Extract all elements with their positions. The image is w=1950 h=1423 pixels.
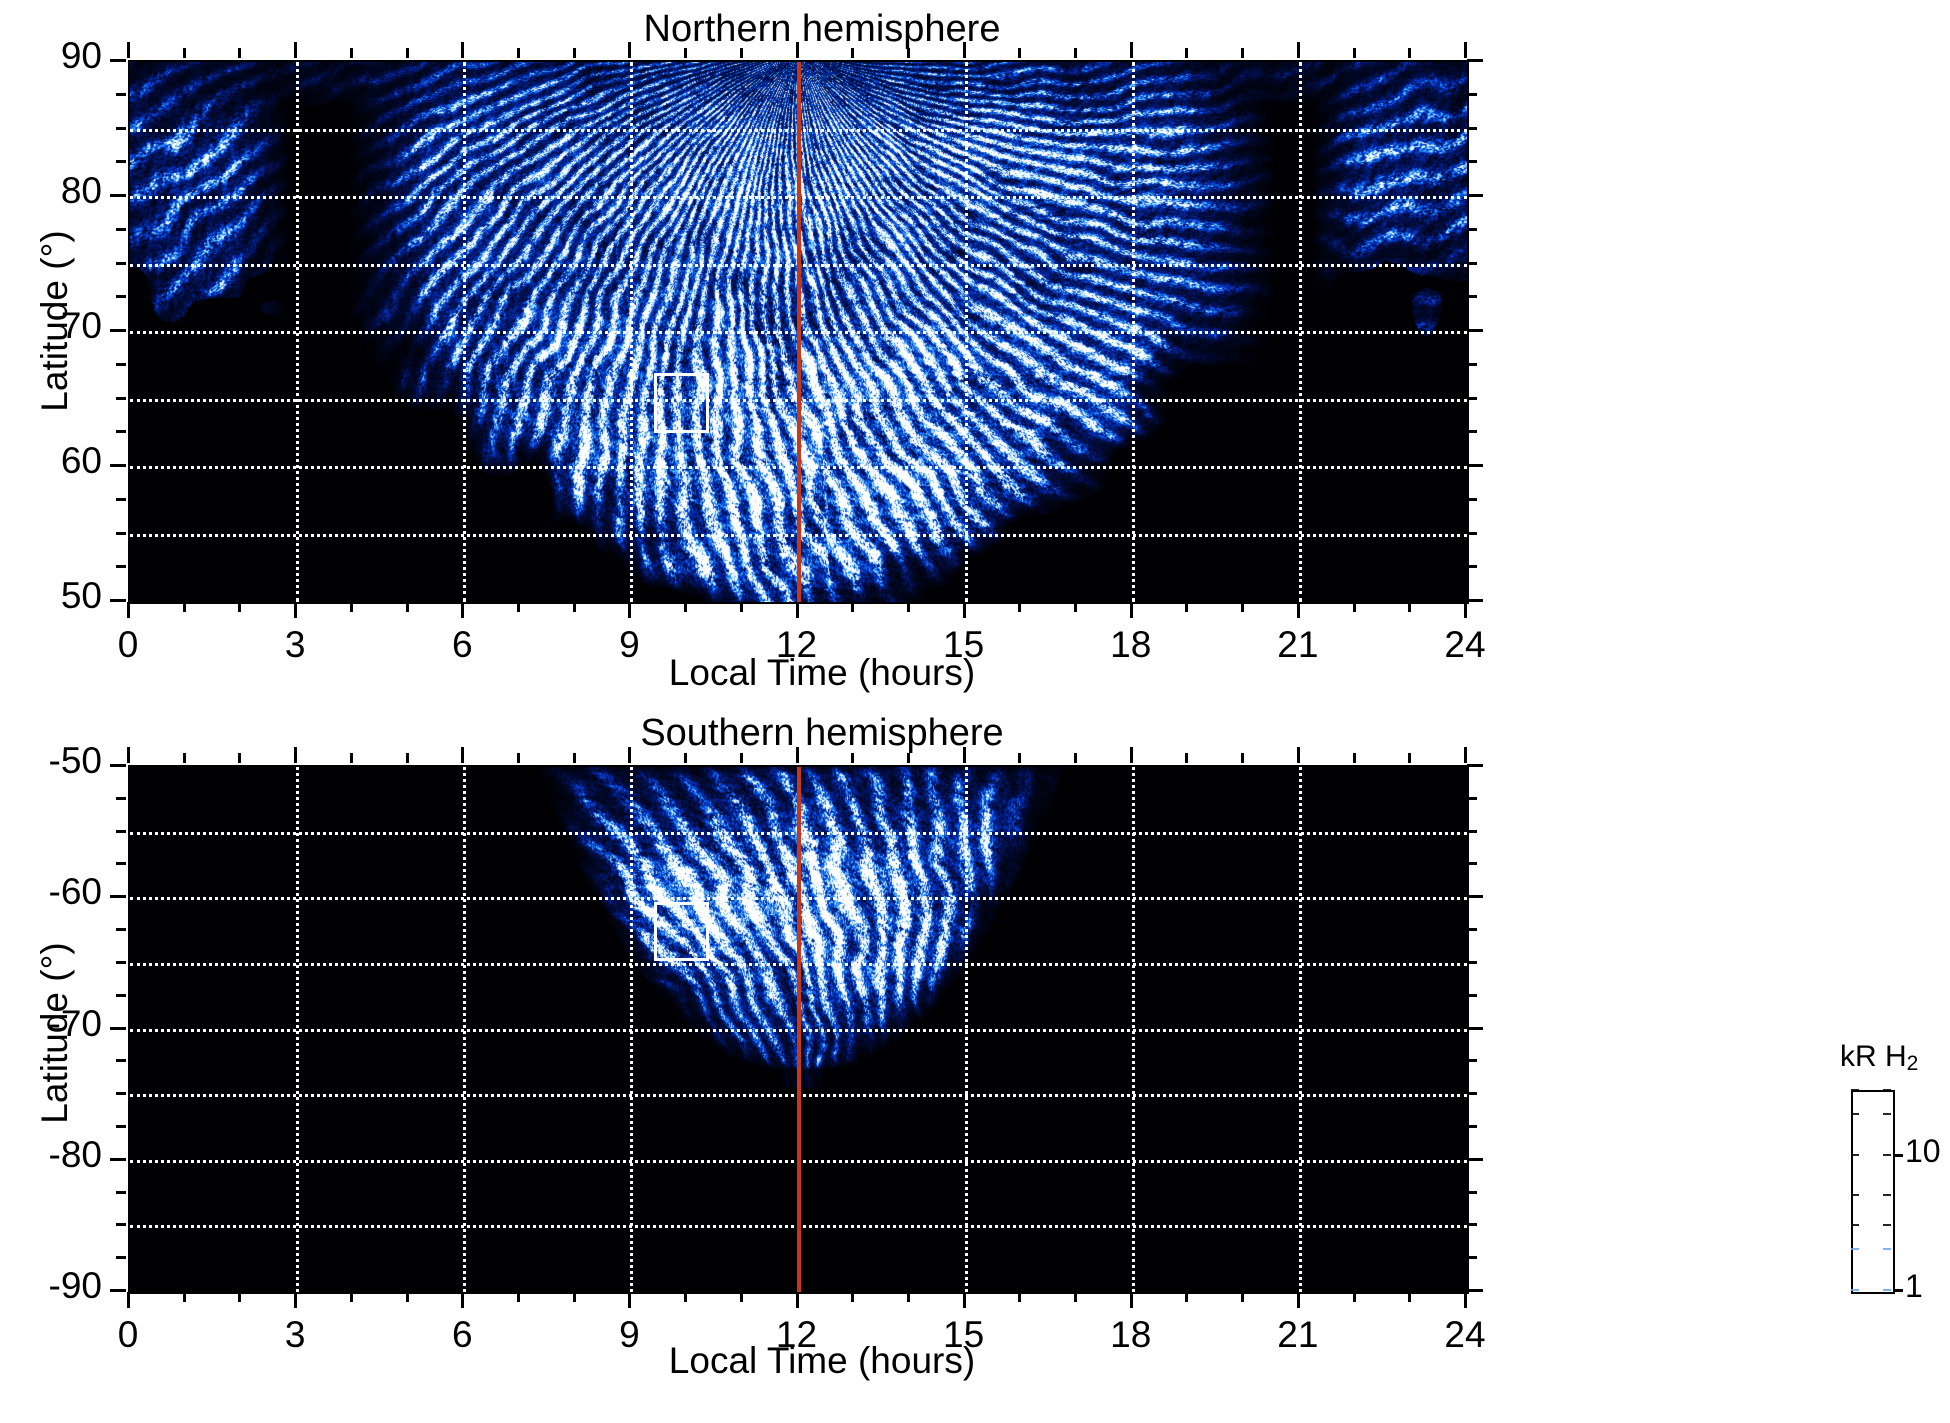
x-tick-major-top bbox=[1297, 42, 1300, 58]
x-tick-minor-top bbox=[238, 48, 241, 58]
x-tick-minor-top bbox=[1408, 48, 1411, 58]
x-tick-major bbox=[1464, 1292, 1467, 1308]
y-tick-minor bbox=[116, 928, 126, 931]
colorbar-tick-label: 10 bbox=[1905, 1133, 1941, 1170]
colorbar-inner-tick bbox=[1851, 1113, 1859, 1115]
x-tick-minor bbox=[183, 1292, 186, 1302]
x-tick-minor-top bbox=[1408, 753, 1411, 763]
y-tick-major bbox=[110, 464, 126, 467]
y-tick-major-right bbox=[1467, 194, 1483, 197]
x-tick-minor bbox=[907, 1292, 910, 1302]
y-tick-minor-right bbox=[1467, 1092, 1477, 1095]
x-tick-label: 9 bbox=[569, 1314, 689, 1356]
x-tick-minor bbox=[183, 602, 186, 612]
colorbar-inner-tick bbox=[1883, 1289, 1891, 1291]
y-tick-minor bbox=[116, 994, 126, 997]
x-tick-minor-top bbox=[573, 753, 576, 763]
colorbar-inner-tick bbox=[1883, 1113, 1891, 1115]
x-tick-major-top bbox=[628, 42, 631, 58]
x-tick-minor-top bbox=[1185, 753, 1188, 763]
y-tick-major-right bbox=[1467, 1158, 1483, 1161]
y-tick-minor-right bbox=[1467, 1125, 1477, 1128]
x-tick-minor-top bbox=[1241, 48, 1244, 58]
x-tick-minor-top bbox=[740, 48, 743, 58]
x-tick-major-top bbox=[796, 747, 799, 763]
x-tick-major-top bbox=[628, 747, 631, 763]
x-tick-minor-top bbox=[907, 48, 910, 58]
y-tick-minor bbox=[116, 397, 126, 400]
x-tick-major-top bbox=[294, 747, 297, 763]
x-tick-label: 12 bbox=[737, 624, 857, 666]
x-tick-label: 6 bbox=[402, 624, 522, 666]
y-tick-minor bbox=[116, 830, 126, 833]
x-tick-label: 15 bbox=[904, 1314, 1024, 1356]
y-tick-minor bbox=[116, 1191, 126, 1194]
y-tick-major-right bbox=[1467, 1289, 1483, 1292]
y-tick-minor-right bbox=[1467, 262, 1477, 265]
colorbar-group: kR H2 101 bbox=[1840, 1040, 1950, 1310]
y-tick-minor-right bbox=[1467, 994, 1477, 997]
x-tick-minor bbox=[573, 1292, 576, 1302]
colorbar-inner-tick bbox=[1851, 1289, 1859, 1291]
x-tick-major-top bbox=[1464, 747, 1467, 763]
y-tick-minor-right bbox=[1467, 498, 1477, 501]
colorbar-title-subscript: 2 bbox=[1907, 1052, 1919, 1075]
y-tick-major-right bbox=[1467, 1027, 1483, 1030]
y-tick-minor bbox=[116, 1223, 126, 1226]
x-tick-major bbox=[796, 602, 799, 618]
y-tick-minor bbox=[116, 961, 126, 964]
x-tick-label: 9 bbox=[569, 624, 689, 666]
x-tick-minor bbox=[350, 602, 353, 612]
y-tick-minor-right bbox=[1467, 397, 1477, 400]
y-tick-minor bbox=[116, 1092, 126, 1095]
x-tick-minor-top bbox=[350, 753, 353, 763]
colorbar-gradient bbox=[1851, 1090, 1895, 1294]
x-tick-minor bbox=[740, 1292, 743, 1302]
y-tick-major bbox=[110, 329, 126, 332]
x-tick-major bbox=[628, 1292, 631, 1308]
y-tick-minor-right bbox=[1467, 1223, 1477, 1226]
x-tick-minor-top bbox=[350, 48, 353, 58]
x-tick-major-top bbox=[963, 747, 966, 763]
x-tick-minor-top bbox=[517, 48, 520, 58]
x-tick-minor bbox=[1353, 1292, 1356, 1302]
y-tick-major bbox=[110, 1158, 126, 1161]
x-tick-major bbox=[1130, 1292, 1133, 1308]
x-tick-minor bbox=[1018, 1292, 1021, 1302]
y-tick-minor-right bbox=[1467, 295, 1477, 298]
x-tick-minor bbox=[573, 602, 576, 612]
x-tick-minor bbox=[851, 1292, 854, 1302]
x-tick-major bbox=[461, 602, 464, 618]
y-tick-minor-right bbox=[1467, 830, 1477, 833]
y-tick-minor bbox=[116, 93, 126, 96]
x-tick-label: 0 bbox=[68, 624, 188, 666]
y-tick-minor-right bbox=[1467, 797, 1477, 800]
y-tick-minor-right bbox=[1467, 228, 1477, 231]
y-tick-minor-right bbox=[1467, 363, 1477, 366]
x-tick-minor-top bbox=[1241, 753, 1244, 763]
y-tick-label: 90 bbox=[0, 35, 102, 77]
x-tick-minor-top bbox=[740, 753, 743, 763]
y-tick-minor-right bbox=[1467, 127, 1477, 130]
x-tick-minor bbox=[238, 602, 241, 612]
heatmap-image-south bbox=[130, 767, 1467, 1292]
x-tick-minor-top bbox=[406, 48, 409, 58]
y-tick-minor bbox=[116, 1256, 126, 1259]
x-tick-label: 0 bbox=[68, 1314, 188, 1356]
x-tick-label: 6 bbox=[402, 1314, 522, 1356]
x-tick-label: 24 bbox=[1405, 1314, 1525, 1356]
x-tick-major bbox=[294, 602, 297, 618]
x-tick-minor-top bbox=[238, 753, 241, 763]
y-tick-major-right bbox=[1467, 764, 1483, 767]
y-tick-minor-right bbox=[1467, 862, 1477, 865]
colorbar-inner-tick bbox=[1883, 1154, 1891, 1156]
y-tick-major-right bbox=[1467, 329, 1483, 332]
y-tick-label: 80 bbox=[0, 170, 102, 212]
y-tick-label: -90 bbox=[0, 1265, 102, 1307]
heatmap-image-north bbox=[130, 62, 1467, 602]
y-tick-minor-right bbox=[1467, 1059, 1477, 1062]
colorbar-tick bbox=[1893, 1154, 1903, 1157]
x-tick-minor bbox=[1408, 602, 1411, 612]
x-tick-minor-top bbox=[1074, 48, 1077, 58]
y-tick-minor-right bbox=[1467, 532, 1477, 535]
x-tick-label: 3 bbox=[235, 624, 355, 666]
y-tick-minor bbox=[116, 1125, 126, 1128]
x-tick-major bbox=[1130, 602, 1133, 618]
x-tick-minor-top bbox=[1353, 48, 1356, 58]
x-tick-minor-top bbox=[183, 753, 186, 763]
y-tick-major bbox=[110, 194, 126, 197]
x-tick-major-top bbox=[127, 747, 130, 763]
x-tick-label: 18 bbox=[1071, 1314, 1191, 1356]
y-tick-minor-right bbox=[1467, 430, 1477, 433]
y-tick-label: 50 bbox=[0, 575, 102, 617]
y-tick-label: -60 bbox=[0, 871, 102, 913]
x-tick-label: 12 bbox=[737, 1314, 857, 1356]
x-tick-minor-top bbox=[517, 753, 520, 763]
y-tick-minor-right bbox=[1467, 1191, 1477, 1194]
x-tick-minor bbox=[684, 1292, 687, 1302]
y-tick-minor bbox=[116, 862, 126, 865]
x-tick-minor bbox=[1185, 1292, 1188, 1302]
x-tick-major bbox=[1297, 1292, 1300, 1308]
y-tick-major bbox=[110, 764, 126, 767]
x-tick-minor-top bbox=[684, 753, 687, 763]
y-tick-minor bbox=[116, 295, 126, 298]
x-tick-minor-top bbox=[1074, 753, 1077, 763]
y-tick-minor-right bbox=[1467, 961, 1477, 964]
y-tick-minor-right bbox=[1467, 1256, 1477, 1259]
y-tick-minor-right bbox=[1467, 565, 1477, 568]
x-tick-minor bbox=[1353, 602, 1356, 612]
y-tick-minor bbox=[116, 127, 126, 130]
x-tick-label: 15 bbox=[904, 624, 1024, 666]
x-tick-minor-top bbox=[573, 48, 576, 58]
x-tick-minor-top bbox=[1353, 753, 1356, 763]
x-tick-minor bbox=[1074, 602, 1077, 612]
x-tick-major bbox=[1464, 602, 1467, 618]
x-tick-label: 3 bbox=[235, 1314, 355, 1356]
x-tick-major-top bbox=[461, 42, 464, 58]
y-tick-major bbox=[110, 59, 126, 62]
x-tick-minor bbox=[517, 1292, 520, 1302]
y-tick-minor bbox=[116, 430, 126, 433]
colorbar-inner-tick bbox=[1851, 1089, 1859, 1091]
colorbar-inner-tick bbox=[1883, 1224, 1891, 1226]
x-tick-minor-top bbox=[406, 753, 409, 763]
x-tick-major bbox=[628, 602, 631, 618]
x-tick-minor-top bbox=[851, 753, 854, 763]
y-tick-major bbox=[110, 1289, 126, 1292]
x-tick-minor-top bbox=[1018, 48, 1021, 58]
x-tick-minor bbox=[684, 602, 687, 612]
x-tick-minor-top bbox=[684, 48, 687, 58]
y-tick-label: -70 bbox=[0, 1003, 102, 1045]
x-tick-major bbox=[963, 1292, 966, 1308]
x-tick-major bbox=[127, 602, 130, 618]
y-tick-major bbox=[110, 1027, 126, 1030]
colorbar-tick bbox=[1893, 1289, 1903, 1292]
colorbar-title: kR H2 bbox=[1840, 1040, 1918, 1076]
x-tick-major bbox=[1297, 602, 1300, 618]
x-tick-major-top bbox=[796, 42, 799, 58]
y-tick-minor bbox=[116, 498, 126, 501]
x-tick-minor bbox=[1241, 1292, 1244, 1302]
x-tick-minor-top bbox=[1185, 48, 1188, 58]
x-tick-minor bbox=[1018, 602, 1021, 612]
x-tick-minor bbox=[238, 1292, 241, 1302]
x-tick-major-top bbox=[461, 747, 464, 763]
x-tick-major bbox=[796, 1292, 799, 1308]
colorbar-tick-label: 1 bbox=[1905, 1268, 1923, 1305]
y-tick-minor bbox=[116, 160, 126, 163]
x-tick-minor-top bbox=[851, 48, 854, 58]
colorbar-inner-tick bbox=[1851, 1248, 1859, 1250]
x-tick-major bbox=[127, 1292, 130, 1308]
y-tick-minor bbox=[116, 228, 126, 231]
colorbar-inner-tick bbox=[1851, 1194, 1859, 1196]
x-tick-minor bbox=[517, 602, 520, 612]
y-tick-label: -50 bbox=[0, 740, 102, 782]
colorbar-inner-tick bbox=[1851, 1224, 1859, 1226]
y-tick-label: -80 bbox=[0, 1134, 102, 1176]
y-tick-major-right bbox=[1467, 895, 1483, 898]
x-tick-minor bbox=[1408, 1292, 1411, 1302]
colorbar-inner-tick bbox=[1883, 1089, 1891, 1091]
x-tick-minor bbox=[907, 602, 910, 612]
x-tick-label: 24 bbox=[1405, 624, 1525, 666]
y-tick-major-right bbox=[1467, 59, 1483, 62]
heatmap-panel-south bbox=[128, 765, 1469, 1294]
x-tick-major-top bbox=[963, 42, 966, 58]
y-tick-minor bbox=[116, 363, 126, 366]
x-tick-major-top bbox=[1464, 42, 1467, 58]
y-tick-minor-right bbox=[1467, 93, 1477, 96]
y-tick-major bbox=[110, 895, 126, 898]
y-tick-minor bbox=[116, 565, 126, 568]
y-tick-major bbox=[110, 599, 126, 602]
y-tick-minor bbox=[116, 532, 126, 535]
y-tick-minor bbox=[116, 797, 126, 800]
x-tick-major bbox=[963, 602, 966, 618]
x-tick-major-top bbox=[294, 42, 297, 58]
y-tick-minor-right bbox=[1467, 160, 1477, 163]
x-tick-minor-top bbox=[183, 48, 186, 58]
x-tick-major-top bbox=[127, 42, 130, 58]
colorbar-inner-tick bbox=[1883, 1194, 1891, 1196]
x-tick-major-top bbox=[1297, 747, 1300, 763]
y-tick-minor bbox=[116, 262, 126, 265]
panel-title-north: Northern hemisphere bbox=[0, 8, 1950, 51]
x-tick-minor bbox=[1241, 602, 1244, 612]
panel-title-south: Southern hemisphere bbox=[0, 712, 1950, 755]
x-tick-minor bbox=[1185, 602, 1188, 612]
y-tick-label: 60 bbox=[0, 440, 102, 482]
y-tick-major-right bbox=[1467, 464, 1483, 467]
x-tick-major-top bbox=[1130, 747, 1133, 763]
figure-root: Northern hemisphere Latitude (°) Local T… bbox=[0, 0, 1950, 1423]
colorbar-inner-tick bbox=[1883, 1248, 1891, 1250]
x-tick-minor bbox=[851, 602, 854, 612]
x-tick-minor bbox=[350, 1292, 353, 1302]
x-tick-minor bbox=[740, 602, 743, 612]
x-tick-minor bbox=[406, 1292, 409, 1302]
colorbar-inner-tick bbox=[1851, 1154, 1859, 1156]
y-tick-minor bbox=[116, 1059, 126, 1062]
x-tick-minor bbox=[1074, 1292, 1077, 1302]
x-tick-major bbox=[294, 1292, 297, 1308]
y-tick-minor-right bbox=[1467, 928, 1477, 931]
x-tick-minor-top bbox=[907, 753, 910, 763]
x-tick-label: 18 bbox=[1071, 624, 1191, 666]
x-tick-major-top bbox=[1130, 42, 1133, 58]
y-tick-label: 70 bbox=[0, 305, 102, 347]
y-tick-major-right bbox=[1467, 599, 1483, 602]
x-tick-label: 21 bbox=[1238, 1314, 1358, 1356]
x-tick-label: 21 bbox=[1238, 624, 1358, 666]
x-tick-minor bbox=[406, 602, 409, 612]
heatmap-panel-north bbox=[128, 60, 1469, 604]
x-tick-major bbox=[461, 1292, 464, 1308]
x-tick-minor-top bbox=[1018, 753, 1021, 763]
